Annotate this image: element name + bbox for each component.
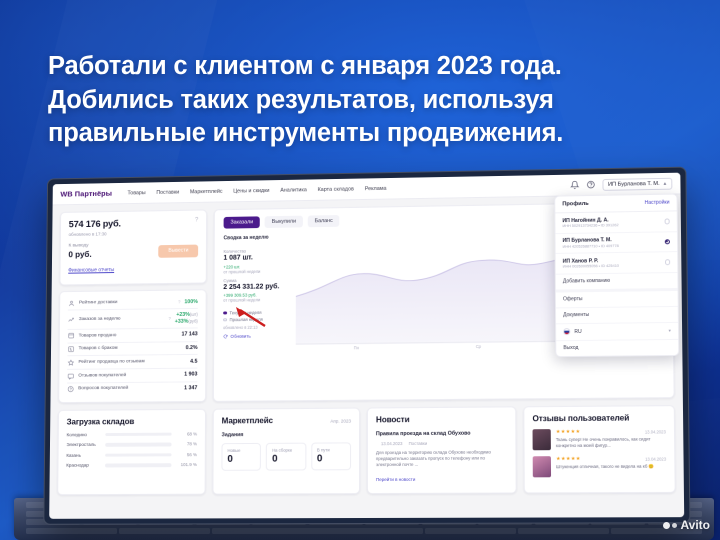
warehouse-name: Коледино [67, 432, 102, 437]
metric-label: Отзывов покупателей [78, 372, 180, 378]
task-tile-label: На сборке [272, 448, 300, 453]
account-details: ИНН 502913734236 • ID 391262 [562, 223, 659, 229]
metric-row-seller-rating: Рейтинг продавца по отзывам 4.5 [67, 355, 197, 370]
nav-item-ads[interactable]: Реклама [365, 185, 387, 191]
metric-label: Рейтинг доставки [79, 300, 174, 306]
refresh-button[interactable]: Обновить [223, 333, 290, 339]
news-meta: 13.04.2023 Поставки [376, 441, 507, 447]
help-icon[interactable]: ? [195, 217, 198, 223]
nav-item-prices[interactable]: Цены и скидки [233, 188, 269, 194]
annotation-arrow-icon [232, 306, 266, 328]
marketplace-card: Маркетплейс Апр. 2023 Задания Новые 0 На… [212, 408, 360, 495]
metric-unit-secondary: (руб) [188, 318, 197, 323]
sum-value: 2 254 331.22 руб. [223, 283, 290, 291]
account-option[interactable]: ИП Бурланова Т. М. ИНН 420526887710 • ID… [555, 232, 677, 254]
question-icon [67, 386, 74, 393]
radio-icon[interactable] [664, 218, 670, 224]
profile-title: Профиль [562, 201, 588, 207]
metric-row-goods-sold: Товаров продано 17 143 [67, 328, 197, 343]
warehouse-progress-bar [105, 432, 171, 436]
quantity-value: 1 087 шт. [223, 254, 290, 262]
review-item[interactable]: ★★★★★ 13.04.2023 Ткань супер! Не очень п… [533, 429, 666, 451]
warehouse-row: Электросталь 78 % [66, 442, 197, 448]
metric-value: 1 347 [184, 385, 197, 391]
language-label: RU [574, 328, 664, 335]
warehouse-name: Краснодар [66, 463, 101, 468]
refresh-icon [223, 334, 228, 339]
metric-value-group: +23%(шт) +33%(руб) [175, 312, 198, 325]
bell-icon[interactable] [571, 180, 580, 189]
language-selector[interactable]: RU ▾ [556, 322, 678, 340]
warehouse-percent: 56 % [175, 452, 197, 457]
profile-dropdown: Профиль Настройки ИП Нагойнин Д. А. ИНН … [554, 194, 679, 357]
warehouse-load-card: Загрузка складов Коледино 68 % Электрост… [57, 409, 206, 495]
rating-stars: ★★★★★ [556, 456, 581, 462]
trend-icon [68, 316, 75, 323]
news-tag: Поставки [409, 441, 428, 446]
account-switcher-button[interactable]: ИП Бурланова Т. М. ▲ [603, 177, 673, 190]
sum-label: Сумма [223, 277, 290, 283]
account-option[interactable]: ИП Нагойнин Д. А. ИНН 502913734236 • ID … [555, 211, 677, 233]
menu-item-offers[interactable]: Оферты [556, 288, 678, 307]
review-text: Штукенция отличная, такого не видела на … [556, 464, 666, 471]
task-tile-value: 0 [272, 454, 300, 465]
radio-icon[interactable] [664, 259, 670, 265]
headline-line-2: Добились таких результатов, используя [48, 84, 678, 118]
review-date: 13.04.2023 [645, 456, 666, 461]
metric-label: Рейтинг продавца по отзывам [78, 359, 186, 365]
app-logo[interactable]: WB Партнёры [60, 189, 112, 199]
nav-item-analytics[interactable]: Аналитика [280, 187, 307, 193]
withdraw-amount: 0 руб. [68, 249, 91, 259]
marketplace-period: Апр. 2023 [330, 419, 351, 424]
metric-value: 4.5 [190, 358, 197, 364]
avito-watermark: Avito [663, 518, 710, 532]
task-tile-new[interactable]: Новые 0 [221, 443, 261, 471]
reviews-card-title: Отзывы пользователей [532, 414, 665, 424]
task-tile-label: Новые [227, 448, 255, 453]
warehouse-card-title: Загрузка складов [67, 417, 198, 427]
task-tile-value: 0 [317, 454, 345, 465]
withdraw-label: К выводу [68, 243, 91, 248]
metric-label: Вопросов покупателей [78, 386, 180, 392]
tab-balance[interactable]: Баланс [308, 215, 340, 227]
chart-summary-stats: Количество 1 087 шт. +220 шт. от прошлой… [223, 244, 290, 346]
warehouse-name: Казань [66, 453, 101, 458]
marketplace-subtitle: Задания [222, 432, 351, 439]
news-body: Для проезда на территорию склада Обухово… [376, 449, 508, 468]
warehouse-percent: 101.9 % [175, 462, 197, 467]
legend-dot-icon [223, 311, 226, 314]
menu-item-documents[interactable]: Документы [556, 306, 678, 323]
metric-value-secondary: +33% [175, 318, 189, 324]
nav-item-goods[interactable]: Товары [127, 190, 145, 196]
balance-updated: обновлено в 17:30 [69, 230, 199, 237]
left-column: ? 574 176 руб. обновлено в 17:30 К вывод… [58, 209, 207, 403]
task-tile-in-transit[interactable]: В пути 0 [311, 443, 351, 471]
box-icon [68, 332, 75, 339]
chevron-up-icon: ▲ [663, 181, 668, 186]
warehouse-percent: 78 % [175, 442, 197, 447]
finance-card: ? 574 176 руб. обновлено в 17:30 К вывод… [59, 209, 207, 284]
task-tile-assembling[interactable]: На сборке 0 [266, 443, 306, 471]
withdraw-button[interactable]: Вывести [159, 244, 199, 257]
nav-item-marketplace[interactable]: Маркетплейс [190, 188, 223, 194]
headline-line-3: правильные инструменты продвижения. [48, 117, 678, 151]
news-card-title: Новости [376, 415, 507, 425]
warehouse-row: Казань 56 % [66, 452, 197, 458]
metric-value: 100% [184, 299, 197, 305]
warehouse-name: Электросталь [66, 442, 101, 447]
tab-purchased[interactable]: Выкупили [265, 216, 303, 228]
metric-row-orders-week: Заказов за неделю ? +23%(шт) +33%(руб) [68, 309, 198, 330]
account-option[interactable]: ИП Ханов Р. Р. ИНН 002600055056 • ID 425… [556, 252, 678, 274]
main-nav: Товары Поставки Маркетплейс Цены и скидк… [127, 185, 386, 195]
radio-icon-selected[interactable] [664, 239, 670, 245]
metric-value: 1 903 [184, 372, 197, 378]
account-details: ИНН 002600055056 • ID 425410 [563, 263, 660, 268]
dashboard-screen: WB Партнёры Товары Поставки Маркетплейс … [49, 173, 684, 519]
review-item[interactable]: ★★★★★ 13.04.2023 Штукенция отличная, так… [533, 456, 667, 478]
review-text: Ткань супер! Не очень понравилось, как с… [556, 437, 666, 450]
avito-label: Avito [680, 518, 710, 532]
page-title: Работали с клиентом с января 2023 года. … [48, 50, 678, 151]
flag-ru-icon [563, 328, 570, 335]
balance-amount: 574 176 руб. [69, 217, 199, 230]
account-switcher-label: ИП Бурланова Т. М. [608, 180, 660, 187]
warehouse-row: Краснодар 101.9 % [66, 462, 197, 468]
x-tick-label: Пн [354, 345, 359, 350]
metric-row-reviews: Отзывов покупателей 1 903 [67, 369, 197, 384]
warehouse-row: Коледино 68 % [67, 431, 198, 437]
account-details: ИНН 420526887710 • ID 409778 [563, 243, 660, 248]
nav-item-supplies[interactable]: Поставки [156, 189, 179, 195]
news-card: Новости Правила проезда на склад Обухово… [367, 407, 517, 495]
marketplace-card-title: Маркетплейс [222, 416, 273, 425]
help-icon[interactable]: ? [168, 316, 170, 321]
task-tile-label: В пути [317, 448, 345, 453]
metric-row-questions: Вопросов покупателей 1 347 [67, 382, 197, 396]
metric-value: +23% [176, 312, 190, 318]
review-date: 13.04.2023 [645, 429, 666, 434]
x-tick-label: Ср [476, 344, 481, 349]
financial-reports-link[interactable]: Финансовые отчеты [68, 267, 114, 273]
refresh-label: Обновить [230, 334, 250, 339]
comment-icon [67, 372, 74, 379]
warehouse-progress-bar [105, 443, 171, 447]
metric-row-defective: Товаров с браком 0.2% [67, 342, 197, 357]
warehouse-progress-bar [105, 453, 171, 457]
product-thumbnail [533, 429, 551, 450]
news-headline[interactable]: Правила проезда на склад Обухово [376, 431, 507, 439]
nav-item-warehouse-map[interactable]: Карта складов [318, 186, 354, 192]
news-all-link[interactable]: Перейти в новости [376, 477, 415, 482]
avito-logo-icon [663, 522, 677, 529]
metric-value: 17 143 [182, 332, 198, 338]
metric-value: 0.2% [186, 345, 198, 351]
warehouse-percent: 68 % [176, 431, 198, 436]
metric-label: Товаров продано [79, 332, 178, 338]
product-thumbnail [533, 456, 551, 477]
help-icon[interactable]: ? [178, 300, 180, 305]
warehouse-progress-bar [105, 463, 171, 467]
profile-dropdown-header: Профиль Настройки [555, 195, 676, 214]
menu-item-add-company[interactable]: Добавить компанию [556, 273, 678, 291]
news-date: 13.04.2023 [381, 441, 402, 446]
chevron-down-icon: ▾ [669, 327, 671, 333]
metric-unit: (шт) [190, 312, 198, 317]
reviews-card: Отзывы пользователей ★★★★★ 13.04.2023 Тк… [523, 405, 675, 493]
keyboard-row [26, 528, 702, 534]
person-icon [68, 300, 75, 307]
settings-link[interactable]: Настройки [645, 200, 670, 206]
metric-label: Товаров с браком [79, 346, 182, 352]
task-tile-value: 0 [227, 454, 255, 465]
metric-label: Заказов за неделю [79, 316, 165, 322]
star-icon [67, 359, 74, 366]
quantity-delta-period: от прошлой недели [223, 268, 290, 274]
help-icon[interactable] [587, 180, 596, 189]
metrics-card: Рейтинг доставки ? 100% Заказов за недел… [58, 289, 207, 404]
menu-item-logout[interactable]: Выход [556, 339, 678, 355]
sum-delta-period: от прошлой недели [223, 297, 290, 303]
legend-dot-icon [223, 318, 226, 321]
headline-line-1: Работали с клиентом с января 2023 года. [48, 50, 678, 84]
laptop-screen-frame: WB Партнёры Товары Поставки Маркетплейс … [38, 168, 686, 524]
broken-box-icon [67, 346, 74, 353]
tab-ordered[interactable]: Заказали [224, 216, 260, 228]
dashboard-bottom-row: Загрузка складов Коледино 68 % Электрост… [49, 405, 684, 503]
rating-stars: ★★★★★ [556, 429, 581, 435]
